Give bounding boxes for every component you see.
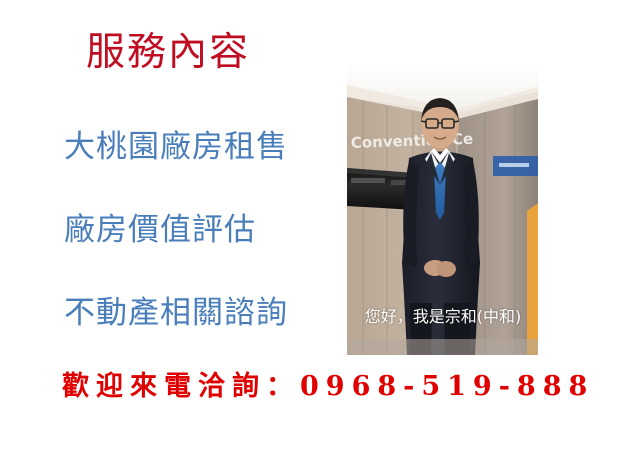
presentation-slide: 服務內容 大桃園廠房租售 廠房價值評估 不動產相關諮詢 歡迎來電洽詢：0968-… — [0, 0, 640, 451]
service-item-3: 不動產相關諮詢 — [64, 296, 288, 330]
contact-phone-line: 歡迎來電洽詢：0968-519-888 — [62, 372, 594, 402]
service-item-2: 廠房價值評估 — [64, 213, 256, 247]
service-item-1: 大桃園廠房租售 — [64, 130, 288, 164]
photo-caption: 您好，我是宗和(中和) — [348, 303, 538, 327]
page-title: 服務內容 — [86, 32, 250, 75]
